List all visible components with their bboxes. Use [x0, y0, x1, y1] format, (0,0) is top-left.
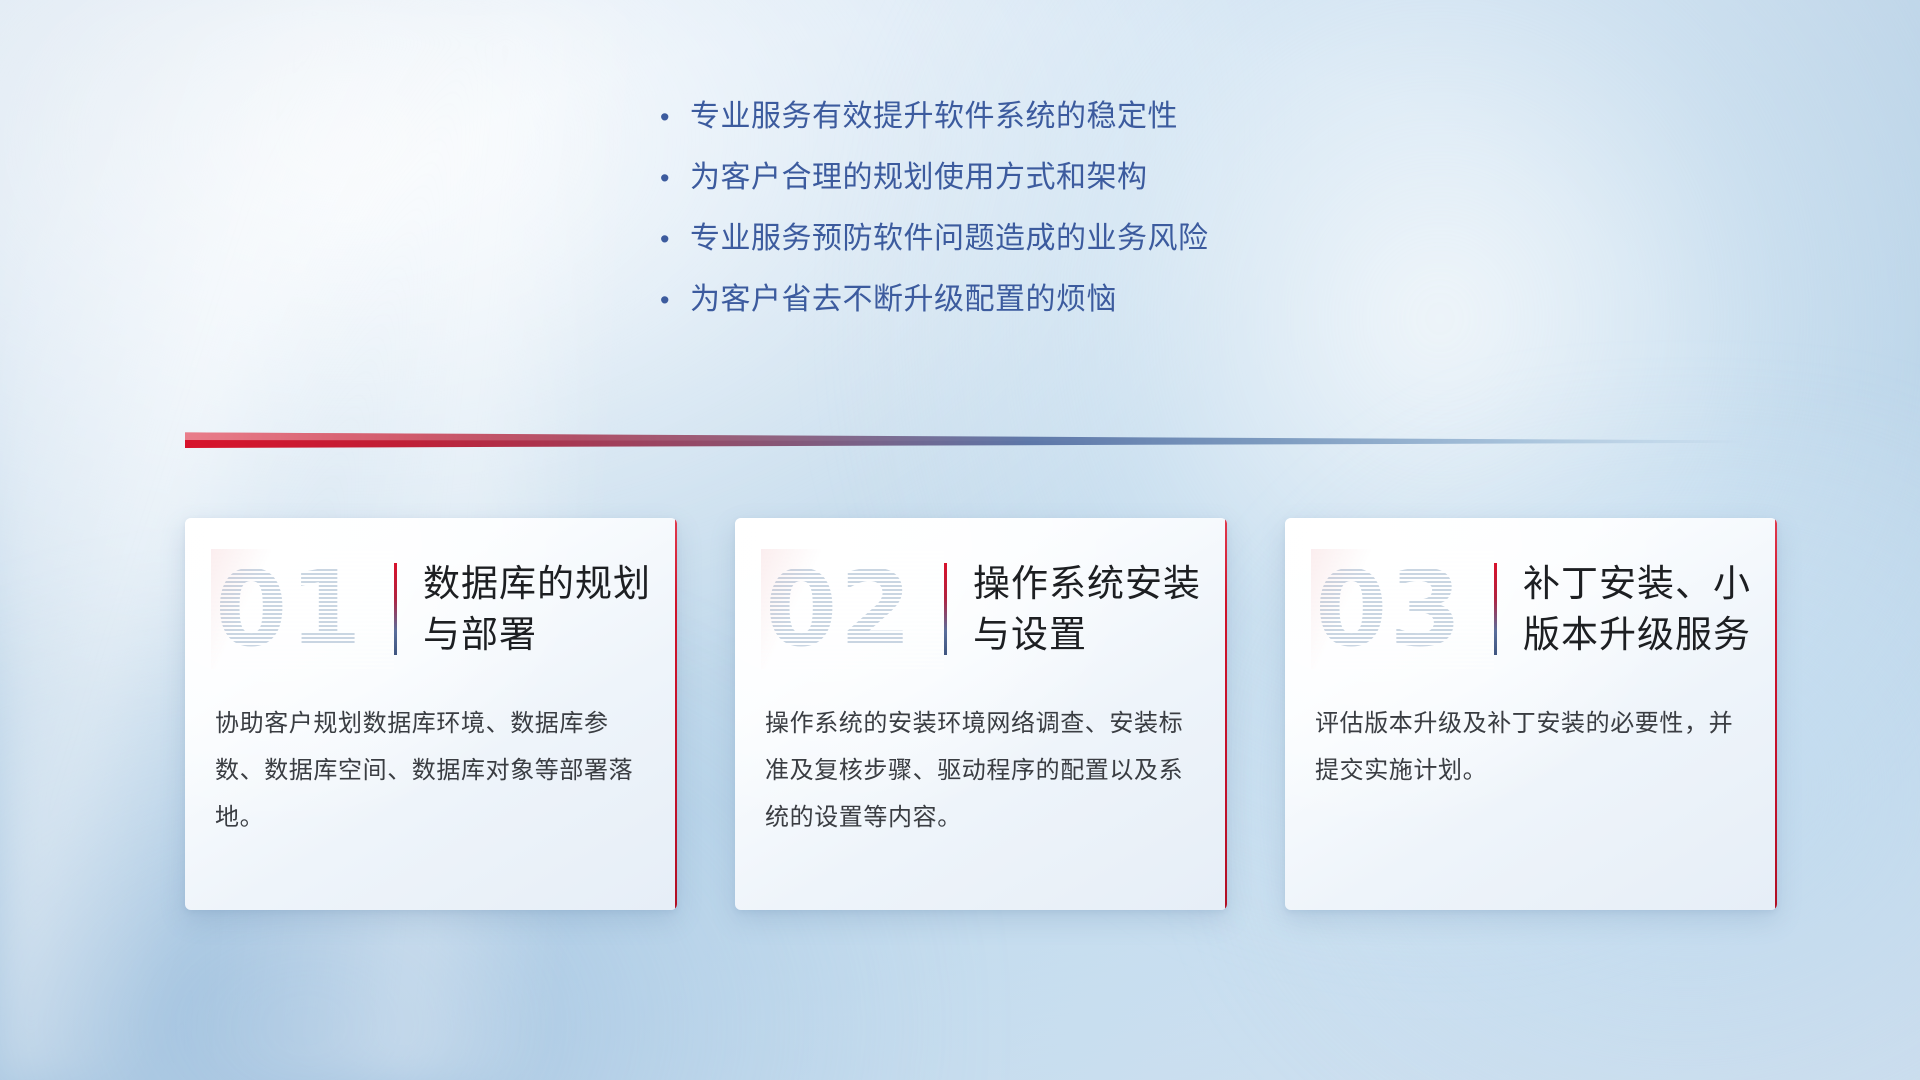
card-title: 数据库的规划与部署 — [423, 558, 673, 660]
bullet-dot-icon: • — [660, 218, 690, 260]
card-accent-bar — [394, 563, 397, 655]
bullet-dot-icon: • — [660, 96, 690, 138]
card-header: 03 补丁安装、小版本升级服务 — [1285, 518, 1777, 700]
bullet-item-4: • 为客户省去不断升级配置的烦恼 — [660, 279, 1420, 321]
bullet-text: 专业服务有效提升软件系统的稳定性 — [690, 96, 1178, 138]
benefits-bullet-list: • 专业服务有效提升软件系统的稳定性 • 为客户合理的规划使用方式和架构 • 专… — [660, 96, 1420, 321]
card-description: 操作系统的安装环境网络调查、安装标准及复核步骤、驱动程序的配置以及系统的设置等内… — [735, 700, 1227, 841]
card-number-text: 01 — [215, 548, 364, 670]
card-accent-bar — [1494, 563, 1497, 655]
card-number-watermark: 02 — [765, 557, 940, 661]
bullet-item-3: • 专业服务预防软件问题造成的业务风险 — [660, 218, 1420, 260]
card-description: 协助客户规划数据库环境、数据库参数、数据库空间、数据库对象等部署落地。 — [185, 700, 677, 841]
section-divider — [185, 428, 1745, 448]
card-title: 补丁安装、小版本升级服务 — [1523, 558, 1773, 660]
card-header: 01 数据库的规划与部署 — [185, 518, 677, 700]
card-number-text: 03 — [1315, 548, 1464, 670]
service-card-list: 01 数据库的规划与部署 协助客户规划数据库环境、数据库参数、数据库空间、数据库… — [185, 518, 1777, 910]
card-number-watermark: 03 — [1315, 557, 1490, 661]
bullet-item-1: • 专业服务有效提升软件系统的稳定性 — [660, 96, 1420, 138]
service-card-01[interactable]: 01 数据库的规划与部署 协助客户规划数据库环境、数据库参数、数据库空间、数据库… — [185, 518, 677, 910]
service-card-03[interactable]: 03 补丁安装、小版本升级服务 评估版本升级及补丁安装的必要性，并提交实施计划。 — [1285, 518, 1777, 910]
bullet-text: 为客户合理的规划使用方式和架构 — [690, 157, 1148, 199]
service-card-02[interactable]: 02 操作系统安装与设置 操作系统的安装环境网络调查、安装标准及复核步骤、驱动程… — [735, 518, 1227, 910]
bullet-dot-icon: • — [660, 279, 690, 321]
bullet-dot-icon: • — [660, 157, 690, 199]
card-title: 操作系统安装与设置 — [973, 558, 1223, 660]
card-description: 评估版本升级及补丁安装的必要性，并提交实施计划。 — [1285, 700, 1777, 794]
bullet-item-2: • 为客户合理的规划使用方式和架构 — [660, 157, 1420, 199]
card-number-watermark: 01 — [215, 557, 390, 661]
bullet-text: 为客户省去不断升级配置的烦恼 — [690, 279, 1117, 321]
bullet-text: 专业服务预防软件问题造成的业务风险 — [690, 218, 1209, 260]
card-accent-bar — [944, 563, 947, 655]
card-header: 02 操作系统安装与设置 — [735, 518, 1227, 700]
card-number-text: 02 — [765, 548, 914, 670]
